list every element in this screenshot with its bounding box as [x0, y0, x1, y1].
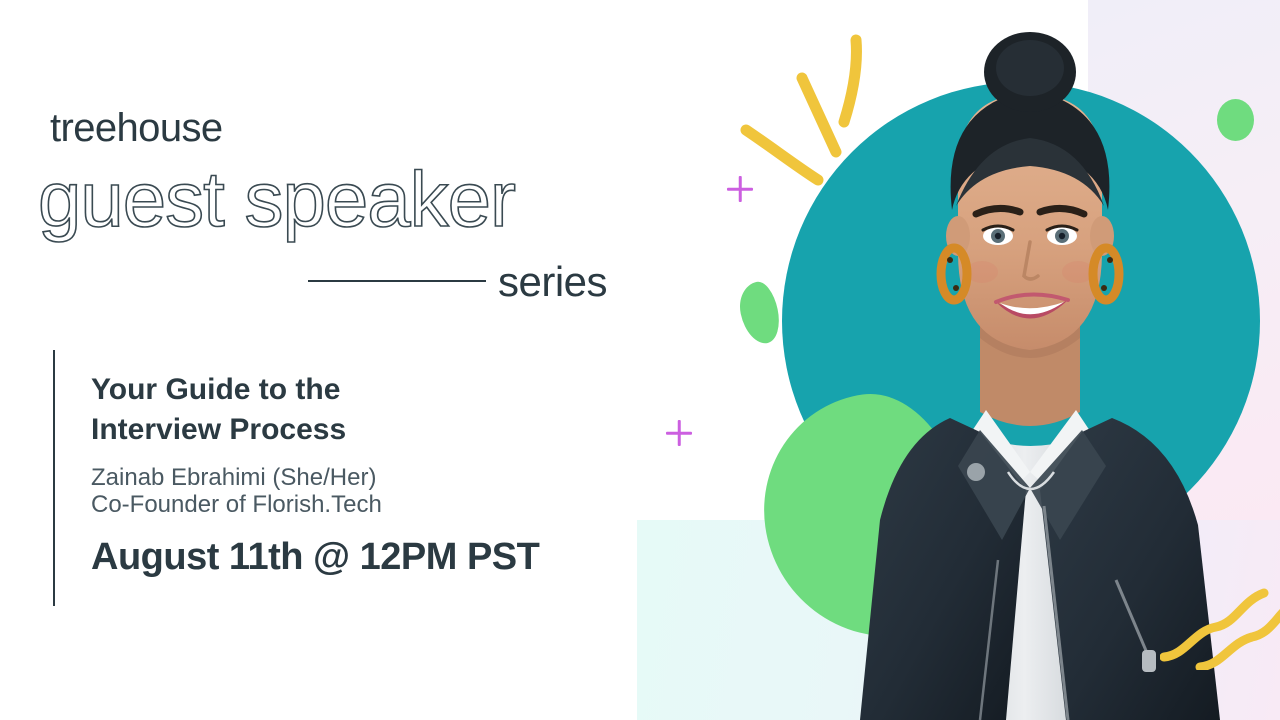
wavy-lines-icon: [1160, 575, 1280, 670]
headline-guest-speaker: guest speaker: [38, 160, 515, 238]
talk-title: Your Guide to the Interview Process: [91, 370, 531, 449]
plus-mark-icon-middle: [666, 420, 692, 446]
green-blob-small-shape: [735, 279, 784, 347]
speaker-role: Co-Founder of Florish.Tech: [91, 489, 382, 521]
poster-canvas: treehouse guest speaker series Your Guid…: [0, 0, 1280, 720]
talk-title-line-1: Your Guide to the: [91, 370, 531, 410]
talk-title-line-2: Interview Process: [91, 410, 531, 450]
treehouse-wordmark: treehouse: [50, 108, 223, 148]
series-label: series: [498, 258, 607, 306]
plus-mark-icon-top: [727, 176, 753, 202]
vertical-accent-rule: [53, 350, 55, 606]
series-divider-rule: [308, 280, 486, 282]
event-datetime: August 11th @ 12PM PST: [91, 536, 539, 579]
